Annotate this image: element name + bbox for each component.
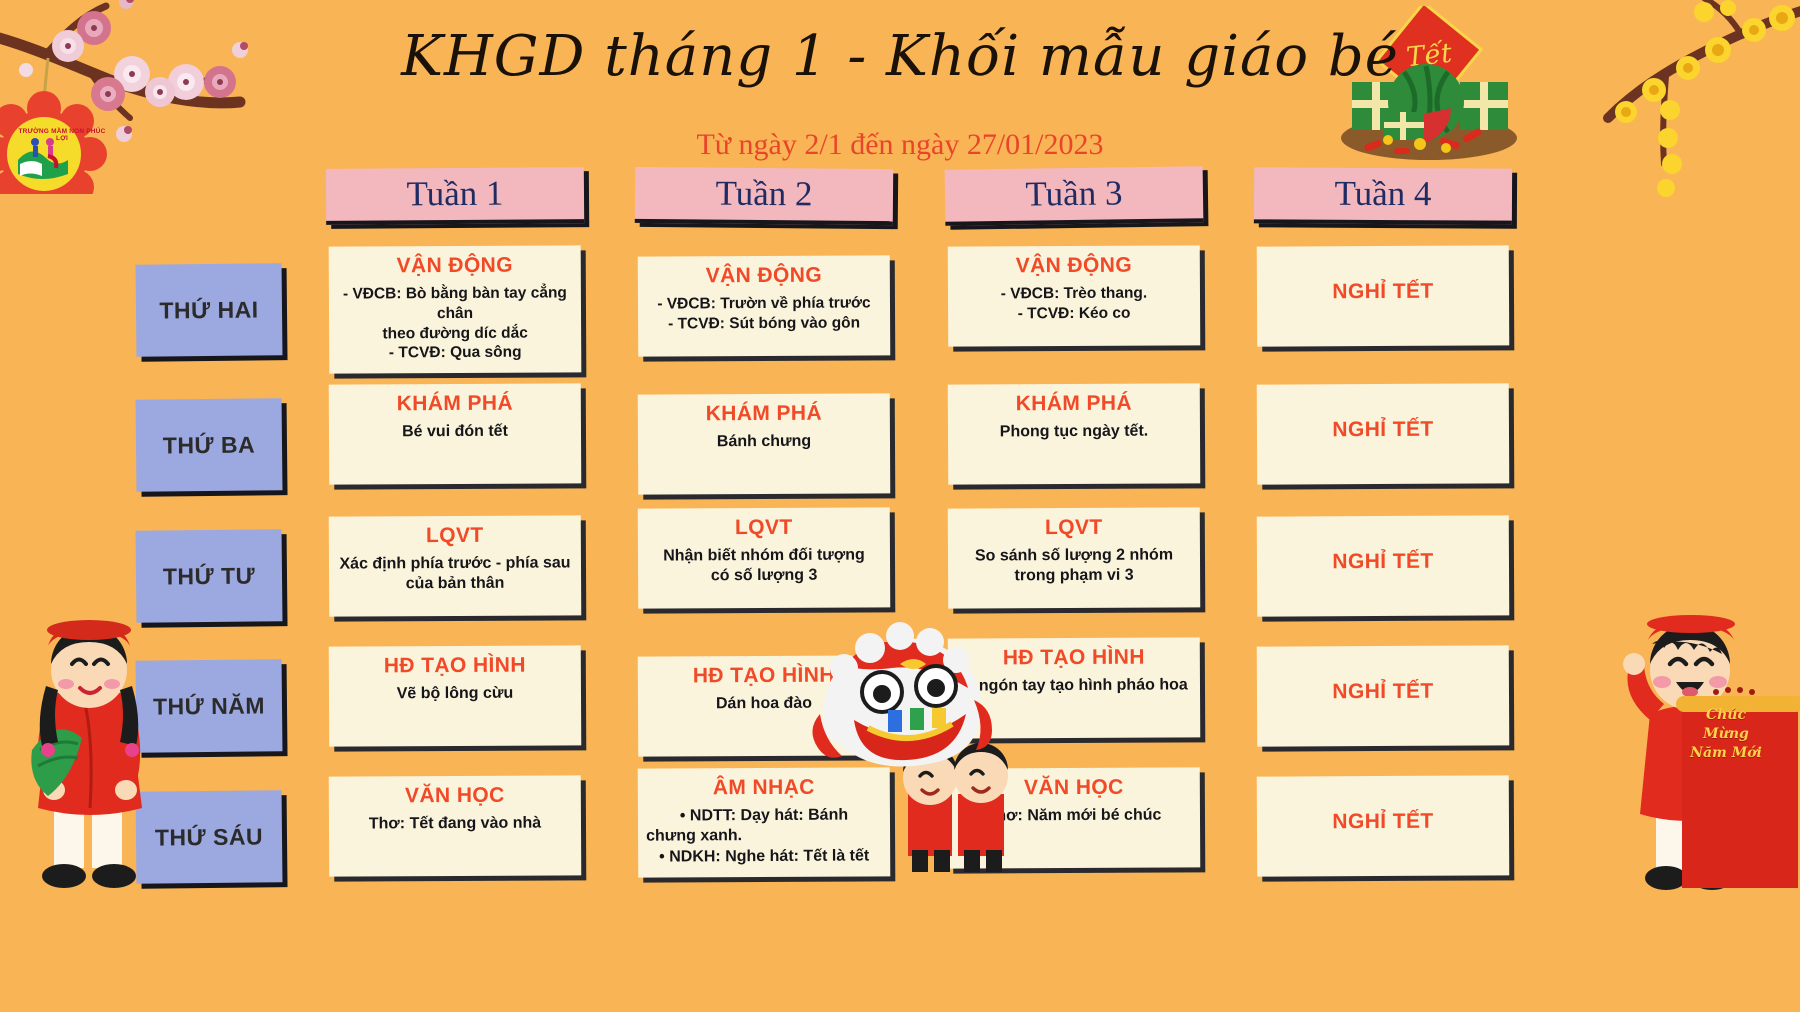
- cell-body: - VĐCB: Trườn về phía trước - TCVĐ: Sút …: [658, 293, 872, 334]
- schedule-row-tuesday: THỨ BA KHÁM PHÁ Bé vui đón tết KHÁM PHÁ …: [118, 384, 1538, 506]
- cell-w1-thursday[interactable]: HĐ TẠO HÌNH Vẽ bộ lông cừu: [328, 645, 581, 746]
- schedule-grid: Tuần 1 Tuần 2 Tuần 3 Tuần 4 THỨ HAI VẬN …: [118, 168, 1538, 908]
- cell-body: Thơ: Tết đang vào nhà: [369, 814, 541, 835]
- cell-w2-thursday[interactable]: HĐ TẠO HÌNH Dán hoa đào: [638, 655, 891, 756]
- cell-body: - VĐCB: Trèo thang. - TCVĐ: Kéo co: [1000, 284, 1147, 324]
- cell-w3-wednesday[interactable]: LQVT So sánh số lượng 2 nhóm trong phạm …: [947, 507, 1200, 608]
- cell-w3-tuesday[interactable]: KHÁM PHÁ Phong tục ngày tết.: [947, 383, 1200, 484]
- cell-body: • NDTT: Dạy hát: Bánh chưng xanh. • NDKH…: [646, 805, 882, 868]
- cell-title: VẬN ĐỘNG: [706, 264, 822, 289]
- day-label-thursday[interactable]: THỨ NĂM: [136, 659, 283, 753]
- cell-title: KHÁM PHÁ: [706, 402, 822, 427]
- cell-title: LQVT: [735, 516, 793, 540]
- cell-w4-tuesday[interactable]: NGHỈ TẾT: [1257, 383, 1510, 484]
- week-header-4[interactable]: Tuần 4: [1254, 167, 1512, 224]
- schedule-row-friday: THỨ SÁU VĂN HỌC Thơ: Tết đang vào nhà ÂM…: [118, 776, 1538, 898]
- cell-w2-wednesday[interactable]: LQVT Nhận biết nhóm đối tượng có số lượn…: [638, 507, 891, 608]
- schedule-row-wednesday: THỨ TƯ LQVT Xác định phía trước - phía s…: [118, 516, 1538, 636]
- cell-body: Thơ: Năm mới bé chúc: [986, 806, 1161, 827]
- cell-title: VẬN ĐỘNG: [396, 254, 512, 279]
- cell-body: Dán hoa đào: [716, 694, 812, 715]
- cell-w4-monday[interactable]: NGHỈ TẾT: [1257, 245, 1510, 346]
- cell-body: Xác định phía trước - phía sau của bản t…: [339, 553, 570, 595]
- cell-title: NGHỈ TẾT: [1333, 418, 1434, 443]
- boy-with-scroll-icon: [1620, 596, 1800, 896]
- schedule-row-thursday: THỨ NĂM HĐ TẠO HÌNH Vẽ bộ lông cừu HĐ TẠ…: [118, 646, 1538, 766]
- cell-body: In ngón tay tạo hình pháo hoa: [960, 675, 1188, 697]
- cell-w4-wednesday[interactable]: NGHỈ TẾT: [1257, 515, 1510, 616]
- cell-w1-monday[interactable]: VẬN ĐỘNG - VĐCB: Bò bằng bàn tay cẳng ch…: [328, 245, 581, 374]
- cell-w1-tuesday[interactable]: KHÁM PHÁ Bé vui đón tết: [328, 383, 581, 484]
- day-label-wednesday[interactable]: THỨ TƯ: [136, 529, 283, 623]
- scroll-text: Chúc Mừng Năm Mới: [1684, 706, 1768, 763]
- cell-title: VẬN ĐỘNG: [1015, 254, 1131, 279]
- schedule-row-monday: THỨ HAI VẬN ĐỘNG - VĐCB: Bò bằng bàn tay…: [118, 246, 1538, 374]
- cell-w3-thursday[interactable]: HĐ TẠO HÌNH In ngón tay tạo hình pháo ho…: [947, 637, 1200, 738]
- cell-w1-friday[interactable]: VĂN HỌC Thơ: Tết đang vào nhà: [328, 775, 581, 876]
- day-label-tuesday[interactable]: THỨ BA: [136, 398, 283, 492]
- week-header-1[interactable]: Tuần 1: [326, 167, 584, 225]
- cell-w3-friday[interactable]: VĂN HỌC Thơ: Năm mới bé chúc: [947, 767, 1200, 868]
- cell-title: LQVT: [1045, 516, 1103, 540]
- week-header-3[interactable]: Tuần 3: [944, 166, 1203, 226]
- week-header-row: Tuần 1 Tuần 2 Tuần 3 Tuần 4: [118, 168, 1538, 246]
- cell-title: HĐ TẠO HÌNH: [1002, 646, 1144, 671]
- day-label-monday[interactable]: THỨ HAI: [136, 263, 283, 357]
- cell-w3-monday[interactable]: VẬN ĐỘNG - VĐCB: Trèo thang. - TCVĐ: Kéo…: [947, 245, 1200, 346]
- cell-title: NGHỈ TẾT: [1333, 280, 1434, 305]
- cell-title: VĂN HỌC: [405, 784, 505, 809]
- cell-w4-thursday[interactable]: NGHỈ TẾT: [1257, 645, 1510, 746]
- cell-body: Bánh chưng: [717, 432, 811, 453]
- cell-title: NGHỈ TẾT: [1333, 680, 1434, 705]
- cell-title: KHÁM PHÁ: [396, 392, 512, 417]
- cell-w2-friday[interactable]: ÂM NHẠC • NDTT: Dạy hát: Bánh chưng xanh…: [638, 767, 891, 878]
- cell-body: - VĐCB: Bò bằng bàn tay cẳng chân theo đ…: [337, 283, 573, 364]
- cell-title: HĐ TẠO HÌNH: [693, 664, 835, 689]
- day-label-friday[interactable]: THỨ SÁU: [136, 790, 283, 884]
- cell-title: HĐ TẠO HÌNH: [383, 654, 525, 679]
- cell-body: Bé vui đón tết: [402, 422, 508, 443]
- cell-title: VĂN HỌC: [1024, 776, 1124, 801]
- cell-title: LQVT: [426, 524, 484, 548]
- page-title: KHGD tháng 1 - Khối mẫu giáo bé: [0, 24, 1800, 89]
- cell-w2-monday[interactable]: VẬN ĐỘNG - VĐCB: Trườn về phía trước - T…: [638, 255, 891, 356]
- cell-title: KHÁM PHÁ: [1015, 392, 1131, 417]
- cell-body: Phong tục ngày tết.: [999, 422, 1148, 443]
- cell-w4-friday[interactable]: NGHỈ TẾT: [1257, 775, 1510, 876]
- cell-title: NGHỈ TẾT: [1333, 550, 1434, 575]
- cell-title: ÂM NHẠC: [713, 776, 815, 801]
- cell-body: Vẽ bộ lông cừu: [396, 684, 513, 705]
- poster-canvas: TRƯỜNG MẦM NON PHÚC LỢI Tết: [0, 0, 1800, 1012]
- page-subtitle: Từ ngày 2/1 đến ngày 27/01/2023: [0, 128, 1800, 162]
- week-header-2[interactable]: Tuần 2: [635, 167, 893, 225]
- cell-w2-tuesday[interactable]: KHÁM PHÁ Bánh chưng: [638, 393, 891, 494]
- cell-body: So sánh số lượng 2 nhóm trong phạm vi 3: [975, 545, 1173, 587]
- cell-w1-wednesday[interactable]: LQVT Xác định phía trước - phía sau của …: [328, 515, 581, 616]
- cell-title: NGHỈ TẾT: [1333, 810, 1434, 835]
- cell-body: Nhận biết nhóm đối tượng có số lượng 3: [663, 545, 865, 587]
